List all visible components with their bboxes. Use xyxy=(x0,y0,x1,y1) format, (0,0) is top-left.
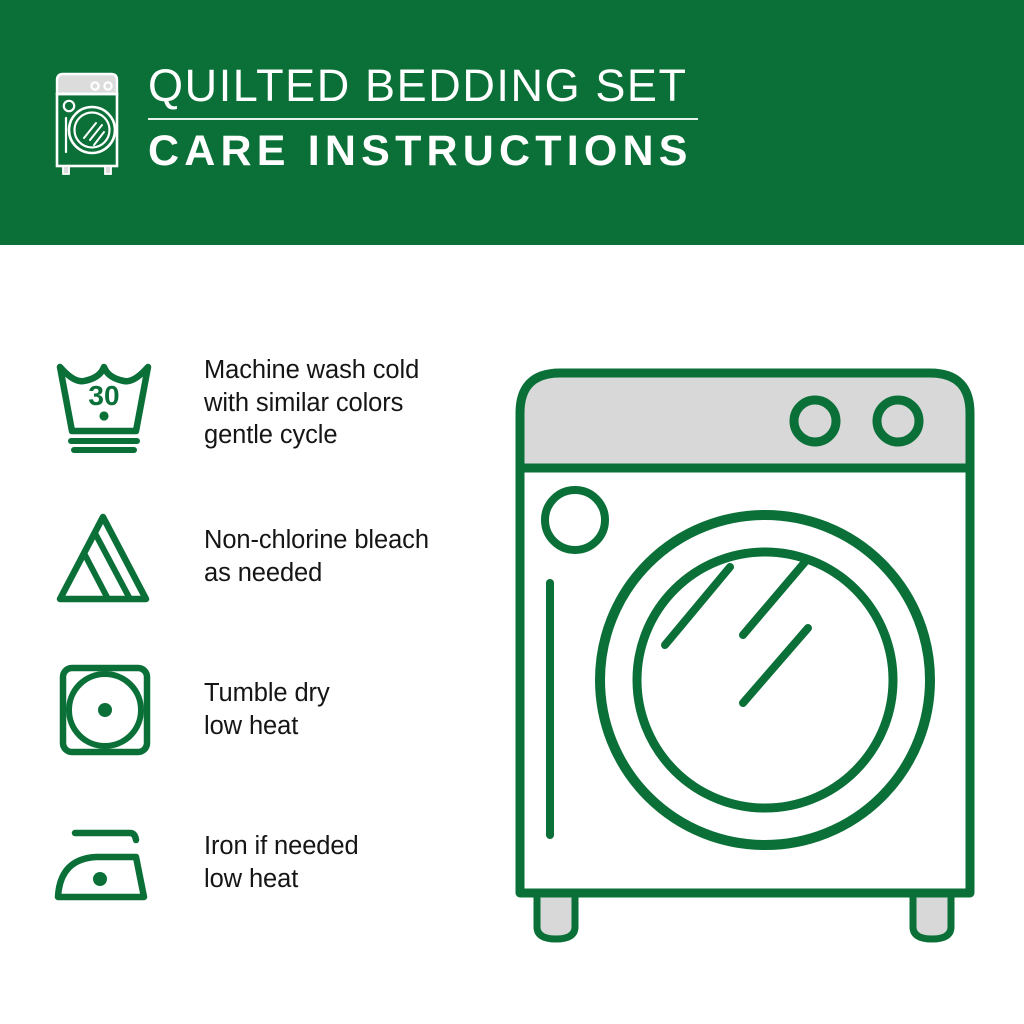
wash-temp-label: 30 xyxy=(88,380,119,411)
title-divider xyxy=(148,118,698,120)
machine-body xyxy=(520,468,970,893)
iron-low-heat-icon xyxy=(52,813,156,913)
header-title-group: QUILTED BEDDING SET CARE INSTRUCTIONS xyxy=(148,62,698,174)
care-row: Non-chlorine bleach as needed xyxy=(52,507,429,607)
care-text: Non-chlorine bleach as needed xyxy=(204,524,429,589)
care-text: Machine wash cold with similar colors ge… xyxy=(204,354,419,452)
tumble-dry-low-icon xyxy=(52,660,156,760)
care-row: 30 Machine wash cold with similar colors… xyxy=(52,353,419,453)
care-row: Iron if needed low heat xyxy=(52,813,359,913)
header-banner: QUILTED BEDDING SET CARE INSTRUCTIONS xyxy=(0,0,1024,245)
care-text: Iron if needed low heat xyxy=(204,830,359,895)
page-subtitle: CARE INSTRUCTIONS xyxy=(148,129,698,174)
care-instruction-list: 30 Machine wash cold with similar colors… xyxy=(0,245,500,1024)
washing-machine-icon xyxy=(48,66,126,176)
wash-basin-30-icon: 30 xyxy=(52,353,156,453)
care-text: Tumble dry low heat xyxy=(204,677,330,742)
header-content: QUILTED BEDDING SET CARE INSTRUCTIONS xyxy=(48,62,698,176)
care-row: Tumble dry low heat xyxy=(52,660,330,760)
bleach-triangle-icon xyxy=(52,507,156,607)
control-panel xyxy=(520,373,970,468)
front-load-washing-machine-illustration xyxy=(495,345,995,955)
page-title: QUILTED BEDDING SET xyxy=(148,62,698,109)
